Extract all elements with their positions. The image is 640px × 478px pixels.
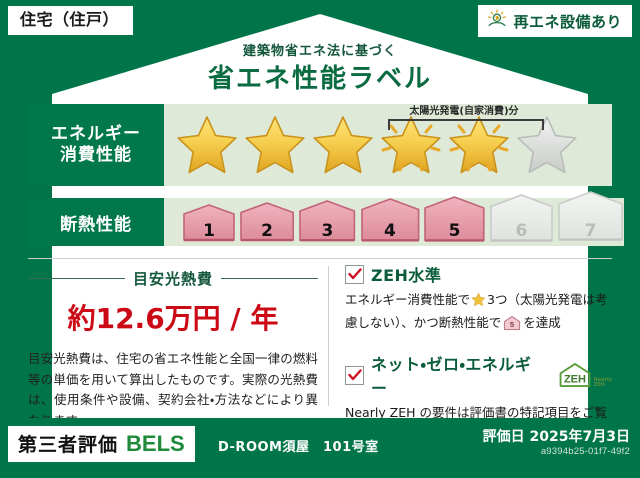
insulation-level-number: 4 xyxy=(360,223,421,240)
zeh-standard-text-c: を達成 xyxy=(523,315,561,330)
utility-cost-heading-text: 目安光熱費 xyxy=(133,268,213,289)
insulation-level-empty: 7 xyxy=(557,200,624,244)
sun-icon xyxy=(486,9,508,33)
evaluation-id: a9394b25-01f7-49f2 xyxy=(541,446,630,457)
insulation-level-number: 7 xyxy=(557,223,624,240)
star-filled xyxy=(310,113,376,177)
inline-insulation-badge: 5 xyxy=(503,315,521,337)
insulation-level-filled: 5 xyxy=(423,200,486,244)
insulation-level-number: 1 xyxy=(182,223,236,240)
zeh-logo-icon: ZEH Nearly ZEH xyxy=(558,362,612,388)
star-filled xyxy=(174,113,240,177)
zeh-column: ZEH水準 エネルギー消費性能で3つ（太陽光発電は考慮しない）、かつ断熱性能で5… xyxy=(329,262,612,414)
zeh-standard-header: ZEH水準 xyxy=(345,262,612,286)
zeh-logo-subtext: Nearly ZEH xyxy=(594,378,612,389)
insulation-level-filled: 3 xyxy=(298,200,356,244)
utility-cost-column: 目安光熱費 約12.6万円 / 年 目安光熱費は、住宅の省エネ性能と全国一律の燃… xyxy=(28,262,328,414)
zeh-standard-description: エネルギー消費性能で3つ（太陽光発電は考慮しない）、かつ断熱性能で5を達成 xyxy=(345,290,612,337)
solar-annotation-bracket xyxy=(388,119,544,130)
energy-row-label-line2: 消費性能 xyxy=(60,145,132,166)
energy-consumption-row: エネルギー 消費性能 太陽光発電(自家消費)分 xyxy=(28,104,612,186)
lower-section: 目安光熱費 約12.6万円 / 年 目安光熱費は、住宅の省エネ性能と全国一律の燃… xyxy=(28,262,612,414)
building-type-tag: 住宅（住戸） xyxy=(8,6,133,35)
energy-row-label-line1: エネルギー xyxy=(51,124,141,145)
insulation-level-empty: 6 xyxy=(489,200,554,244)
heading-rule-left xyxy=(28,278,125,279)
section-divider xyxy=(28,258,612,259)
insulation-level-filled: 2 xyxy=(239,200,295,244)
utility-cost-heading: 目安光熱費 xyxy=(28,268,318,289)
insulation-level-number: 5 xyxy=(423,223,486,240)
insulation-row-label: 断熱性能 xyxy=(28,198,164,246)
insulation-performance-row: 断熱性能 1234567 xyxy=(28,198,612,246)
zeh-standard-title: ZEH水準 xyxy=(371,262,441,286)
insulation-level-number: 6 xyxy=(489,223,554,240)
net-zero-energy-header: ネット・ゼロ・エネルギー ZEH Nearly ZEH xyxy=(345,351,612,399)
checkmark-icon xyxy=(345,265,364,284)
renewable-badge-label: 再エネ設備あり xyxy=(513,11,622,32)
insulation-row-body: 1234567 xyxy=(164,198,624,246)
checkmark-icon xyxy=(345,366,364,385)
renewable-equipment-badge: 再エネ設備あり xyxy=(478,5,632,37)
inline-star-icon xyxy=(471,292,486,313)
label-title: 省エネ性能ラベル xyxy=(0,58,640,95)
bels-logo: 第三者評価 BELS xyxy=(8,426,195,462)
net-zero-energy-title: ネット・ゼロ・エネルギー xyxy=(371,351,547,399)
building-type-label: 住宅（住戸） xyxy=(20,10,119,29)
star-filled xyxy=(242,113,308,177)
zeh-logo-sub-line2: ZEH xyxy=(594,382,605,388)
label-subtitle: 建築物省エネ法に基づく xyxy=(0,40,640,59)
evaluation-date: 評価日 2025年7月3日 xyxy=(483,426,630,446)
insulation-level-number: 3 xyxy=(298,223,356,240)
zeh-standard-block: ZEH水準 エネルギー消費性能で3つ（太陽光発電は考慮しない）、かつ断熱性能で5… xyxy=(345,262,612,337)
svg-text:ZEH: ZEH xyxy=(564,374,586,386)
solar-annotation-label: 太陽光発電(自家消費)分 xyxy=(382,102,546,117)
insulation-level-filled: 1 xyxy=(182,200,236,244)
energy-performance-label: 住宅（住戸） 再エネ設備あり 建築物省エネ法に基づく 省エネ性能ラベル xyxy=(0,0,640,478)
insulation-row-label-text: 断熱性能 xyxy=(60,210,132,235)
insulation-level-number: 2 xyxy=(239,223,295,240)
bels-en-label: BELS xyxy=(126,431,185,457)
zeh-standard-text-a: エネルギー消費性能で xyxy=(345,292,470,307)
insulation-level-filled: 4 xyxy=(360,200,421,244)
unit-name: D-ROOM須屋 101号室 xyxy=(218,436,379,455)
energy-row-label: エネルギー 消費性能 xyxy=(28,104,164,186)
utility-cost-value: 約12.6万円 / 年 xyxy=(28,297,318,337)
heading-rule-right xyxy=(221,278,318,279)
bels-jp-label: 第三者評価 xyxy=(18,430,118,457)
energy-row-body: 太陽光発電(自家消費)分 xyxy=(164,104,612,186)
footer-bar: 第三者評価 BELS D-ROOM須屋 101号室 評価日 2025年7月3日 … xyxy=(0,418,640,478)
